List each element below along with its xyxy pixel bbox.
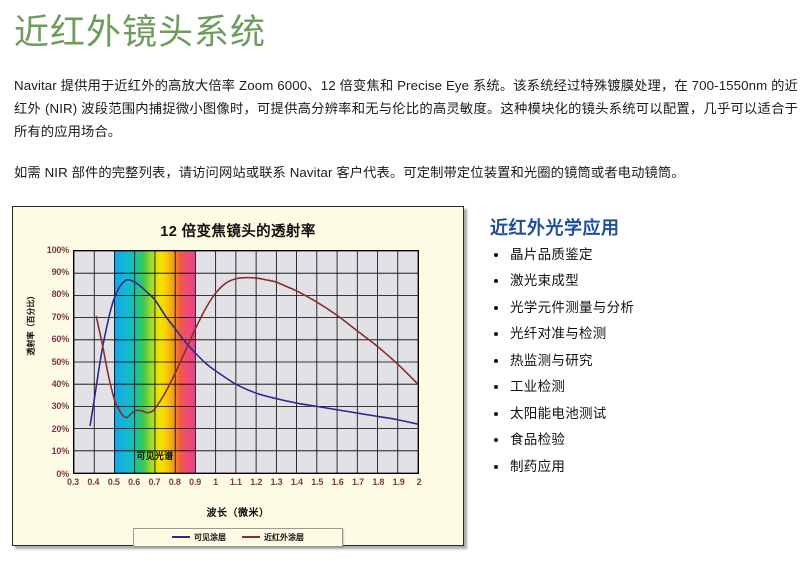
plot-wrapper: 透射率（百分比） 0%10%20%30%40%50%60%70%80%90%10… — [13, 250, 463, 482]
x-tick-label: 1.8 — [372, 477, 384, 487]
y-tick-label: 60% — [52, 334, 69, 344]
bullet-icon — [494, 438, 498, 442]
y-tick-label: 70% — [52, 312, 69, 322]
application-list-item: 工业检测 — [490, 380, 812, 394]
x-tick-label: 0.9 — [189, 477, 201, 487]
x-tick-label: 1.9 — [393, 477, 405, 487]
application-list-item: 制药应用 — [490, 460, 812, 474]
application-list-item: 热监测与研究 — [490, 354, 812, 368]
x-tick-label: 2 — [417, 477, 422, 487]
y-tick-label: 100% — [47, 245, 69, 255]
y-tick-label: 90% — [52, 267, 69, 277]
plot-area: 可见光谱 — [73, 250, 419, 474]
x-tick-label: 1.4 — [291, 477, 303, 487]
application-list-item: 光纤对准与检测 — [490, 327, 812, 341]
application-label: 太阳能电池测试 — [510, 406, 607, 421]
transmission-chart-card: 12 倍变焦镜头的透射率 透射率（百分比） 0%10%20%30%40%50%6… — [12, 206, 464, 546]
x-tick-label: 1.6 — [332, 477, 344, 487]
intro-block: Navitar 提供用于近红外的高放大倍率 Zoom 6000、12 倍变焦和 … — [0, 75, 812, 184]
bullet-icon — [494, 385, 498, 389]
chart-title: 12 倍变焦镜头的透射率 — [13, 207, 463, 241]
y-tick-label: 40% — [52, 379, 69, 389]
legend-item: 可见涂层 — [172, 532, 226, 543]
chart-curves — [74, 251, 418, 473]
bullet-icon — [494, 465, 498, 469]
y-tick-label: 50% — [52, 357, 69, 367]
legend-label: 可见涂层 — [194, 532, 226, 543]
application-label: 制药应用 — [510, 459, 565, 474]
page-title: 近红外镜头系统 — [0, 0, 812, 53]
intro-paragraph-1: Navitar 提供用于近红外的高放大倍率 Zoom 6000、12 倍变焦和 … — [14, 75, 798, 144]
x-tick-label: 0.4 — [87, 477, 99, 487]
application-label: 工业检测 — [510, 379, 565, 394]
x-tick-label: 0.7 — [148, 477, 160, 487]
application-list-item: 晶片品质鉴定 — [490, 248, 812, 262]
y-tick-label: 10% — [52, 446, 69, 456]
y-axis-tick-labels: 0%10%20%30%40%50%60%70%80%90%100% — [33, 250, 69, 474]
x-tick-label: 0.6 — [128, 477, 140, 487]
application-list-item: 激光束成型 — [490, 274, 812, 288]
x-tick-label: 1.5 — [311, 477, 323, 487]
application-list-item: 食品检验 — [490, 433, 812, 447]
x-tick-label: 0.3 — [67, 477, 79, 487]
legend-swatch — [242, 536, 260, 538]
applications-list: 晶片品质鉴定激光束成型光学元件测量与分析光纤对准与检测热监测与研究工业检测太阳能… — [490, 248, 812, 474]
application-label: 光纤对准与检测 — [510, 326, 607, 341]
application-list-item: 光学元件测量与分析 — [490, 301, 812, 315]
legend-label: 近红外涂层 — [264, 532, 304, 543]
bullet-icon — [494, 412, 498, 416]
y-tick-label: 80% — [52, 289, 69, 299]
x-tick-label: 1.2 — [250, 477, 262, 487]
bullet-icon — [494, 306, 498, 310]
x-tick-label: 1.3 — [271, 477, 283, 487]
chart-legend: 可见涂层近红外涂层 — [133, 528, 343, 547]
bullet-icon — [494, 279, 498, 283]
application-label: 晶片品质鉴定 — [510, 247, 593, 262]
application-label: 光学元件测量与分析 — [510, 300, 634, 315]
applications-heading: 近红外光学应用 — [490, 214, 812, 240]
y-tick-label: 20% — [52, 424, 69, 434]
application-label: 热监测与研究 — [510, 353, 593, 368]
y-tick-label: 30% — [52, 401, 69, 411]
legend-swatch — [172, 536, 190, 538]
visible-spectrum-label: 可见光谱 — [114, 449, 195, 462]
x-axis-tick-labels: 0.30.40.50.60.70.80.911.11.21.31.41.51.6… — [73, 477, 419, 493]
x-tick-label: 1 — [213, 477, 218, 487]
applications-column: 近红外光学应用 晶片品质鉴定激光束成型光学元件测量与分析光纤对准与检测热监测与研… — [464, 206, 812, 487]
x-tick-label: 1.7 — [352, 477, 364, 487]
bullet-icon — [494, 332, 498, 336]
x-tick-label: 0.8 — [169, 477, 181, 487]
application-label: 食品检验 — [510, 432, 565, 447]
bullet-icon — [494, 359, 498, 363]
content-row: 12 倍变焦镜头的透射率 透射率（百分比） 0%10%20%30%40%50%6… — [0, 206, 812, 546]
application-list-item: 太阳能电池测试 — [490, 407, 812, 421]
legend-item: 近红外涂层 — [242, 532, 304, 543]
x-tick-label: 1.1 — [230, 477, 242, 487]
bullet-icon — [494, 253, 498, 257]
application-label: 激光束成型 — [510, 273, 579, 288]
intro-paragraph-2: 如需 NIR 部件的完整列表，请访问网站或联系 Navitar 客户代表。可定制… — [14, 162, 798, 185]
x-tick-label: 0.5 — [108, 477, 120, 487]
